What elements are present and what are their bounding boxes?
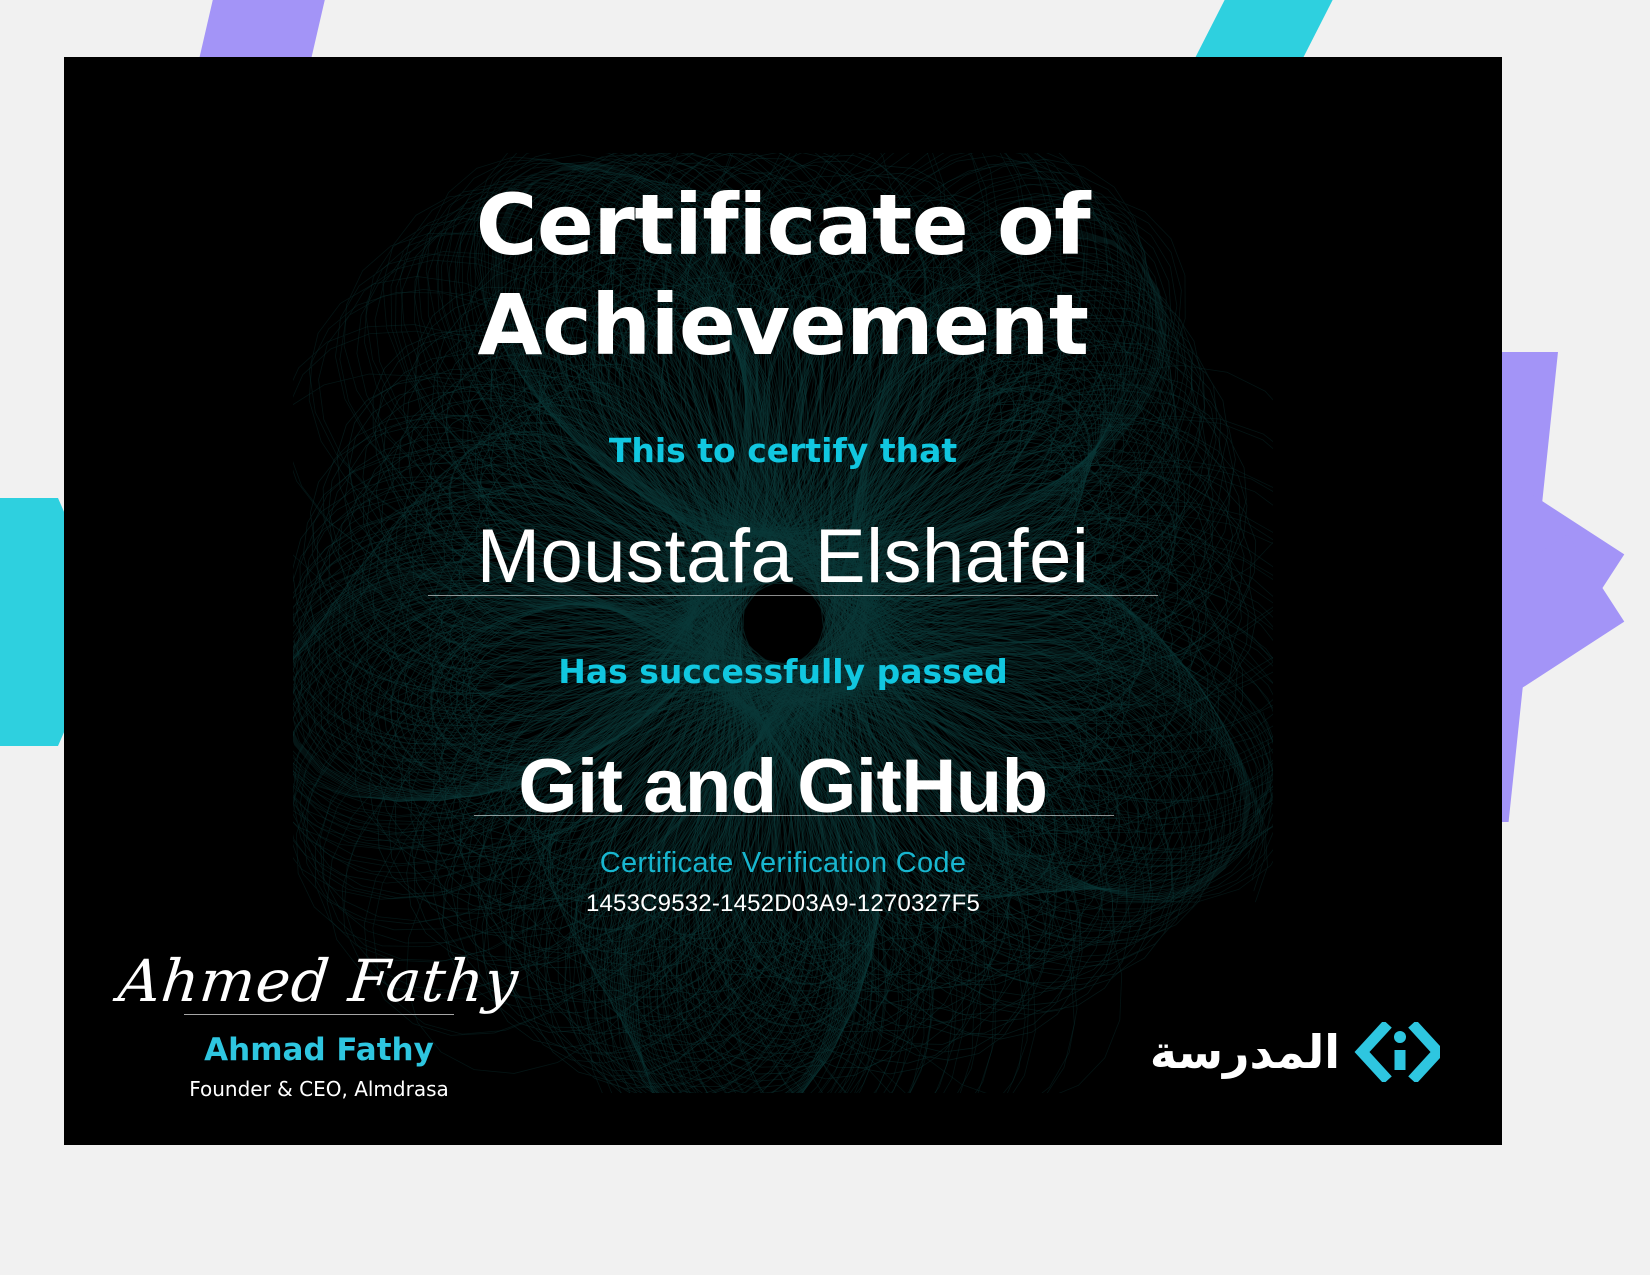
signer-role: Founder & CEO, Almdrasa bbox=[104, 1077, 534, 1101]
passed-label: Has successfully passed bbox=[64, 652, 1502, 691]
course-name: Git and GitHub bbox=[64, 743, 1502, 830]
signer-name: Ahmad Fathy bbox=[104, 1032, 534, 1068]
almdrasa-logo: المدرسة bbox=[1150, 1022, 1440, 1082]
certificate-title-line-1: Certificate of bbox=[64, 176, 1502, 275]
verification-code-label: Certificate Verification Code bbox=[64, 847, 1502, 880]
certificate-card: Certificate of Achievement This to certi… bbox=[64, 57, 1502, 1145]
logo-wordmark: المدرسة bbox=[1150, 1029, 1340, 1075]
signature-block: Ahmed Fathy Ahmad Fathy Founder & CEO, A… bbox=[104, 952, 534, 1101]
handwritten-signature: Ahmed Fathy bbox=[116, 952, 522, 1010]
recipient-name-rule bbox=[428, 595, 1158, 596]
certify-label: This to certify that bbox=[64, 431, 1502, 470]
code-brackets-icon bbox=[1354, 1022, 1440, 1082]
certificate-stage: Certificate of Achievement This to certi… bbox=[0, 0, 1650, 1275]
recipient-name: Moustafa Elshafei bbox=[64, 513, 1502, 600]
certificate-title-line-2: Achievement bbox=[64, 276, 1502, 375]
verification-code-value: 1453C9532-1452D03A9-1270327F5 bbox=[64, 890, 1502, 918]
course-name-rule bbox=[474, 815, 1114, 816]
